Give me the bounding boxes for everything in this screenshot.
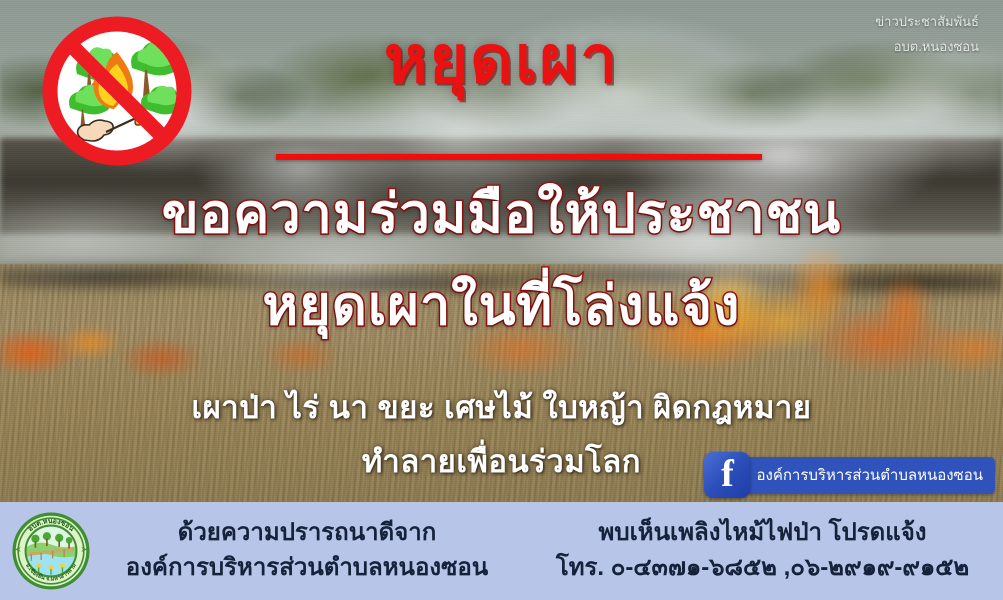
footer-goodwill-text: ด้วยความปรารถนาดีจาก องค์การบริหารส่วนตำ…: [92, 516, 522, 586]
footer-contact-phone: โทร. ๐-๔๓๗๑-๖๘๕๒ ,๐๖-๒๙๑๙-๙๑๕๒: [522, 551, 1003, 586]
footer-goodwill-line2: องค์การบริหารส่วนตำบลหนองซอน: [92, 551, 522, 586]
subheadline-line1: ขอความร่วมมือให้ประชาชน: [0, 186, 1003, 243]
facebook-icon[interactable]: [704, 452, 750, 498]
poster-canvas: ข่าวประชาสัมพันธ์ อบต.หนองซอน: [0, 0, 1003, 600]
footer-contact-text: พบเห็นเพลิงไหม้ไฟป่า โปรดแจ้ง โทร. ๐-๔๓๗…: [522, 516, 1003, 586]
red-divider-rule: [276, 154, 762, 160]
footer-goodwill-line1: ด้วยความปรารถนาดีจาก: [92, 516, 522, 551]
facebook-page-name[interactable]: องค์การบริหารส่วนตำบลหนองซอน: [744, 457, 995, 494]
municipal-seal-icon: อบต.หนองซอน อ.เชียงยืน จ.มหาสารคาม: [10, 510, 92, 592]
facebook-page-badge[interactable]: องค์การบริหารส่วนตำบลหนองซอน: [704, 452, 995, 498]
page-title-headline: หยุดเผา: [0, 26, 1003, 92]
footer-bar: อบต.หนองซอน อ.เชียงยืน จ.มหาสารคาม ด้วยค…: [0, 502, 1003, 600]
subheadline-line2: หยุดเผาในที่โล่งแจ้ง: [0, 278, 1003, 335]
footer-contact-line1: พบเห็นเพลิงไหม้ไฟป่า โปรดแจ้ง: [522, 516, 1003, 551]
legal-notice-line1: เผาป่า ไร่ นา ขยะ เศษไม้ ใบหญ้า ผิดกฎหมา…: [0, 382, 1003, 432]
